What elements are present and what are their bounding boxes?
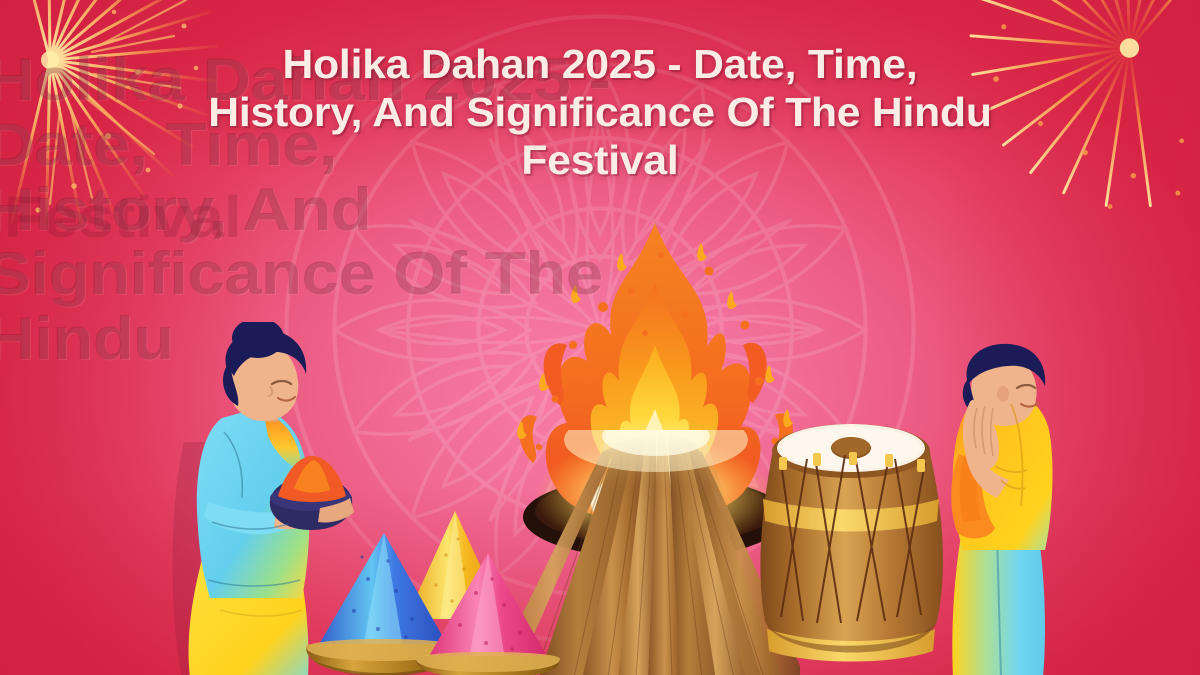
gulal-cones-group bbox=[300, 495, 590, 675]
title-line-3: Festival bbox=[132, 137, 1068, 185]
title-line-2: History, And Significance Of The Hindu bbox=[132, 89, 1068, 137]
poster-canvas: Holika Dahan 2025 - Date, Time, History,… bbox=[0, 0, 1200, 675]
man-praying-namaste bbox=[905, 338, 1105, 675]
title-line-1: Holika Dahan 2025 - Date, Time, bbox=[132, 41, 1068, 89]
page-title: Holika Dahan 2025 - Date, Time, History,… bbox=[0, 41, 1200, 185]
